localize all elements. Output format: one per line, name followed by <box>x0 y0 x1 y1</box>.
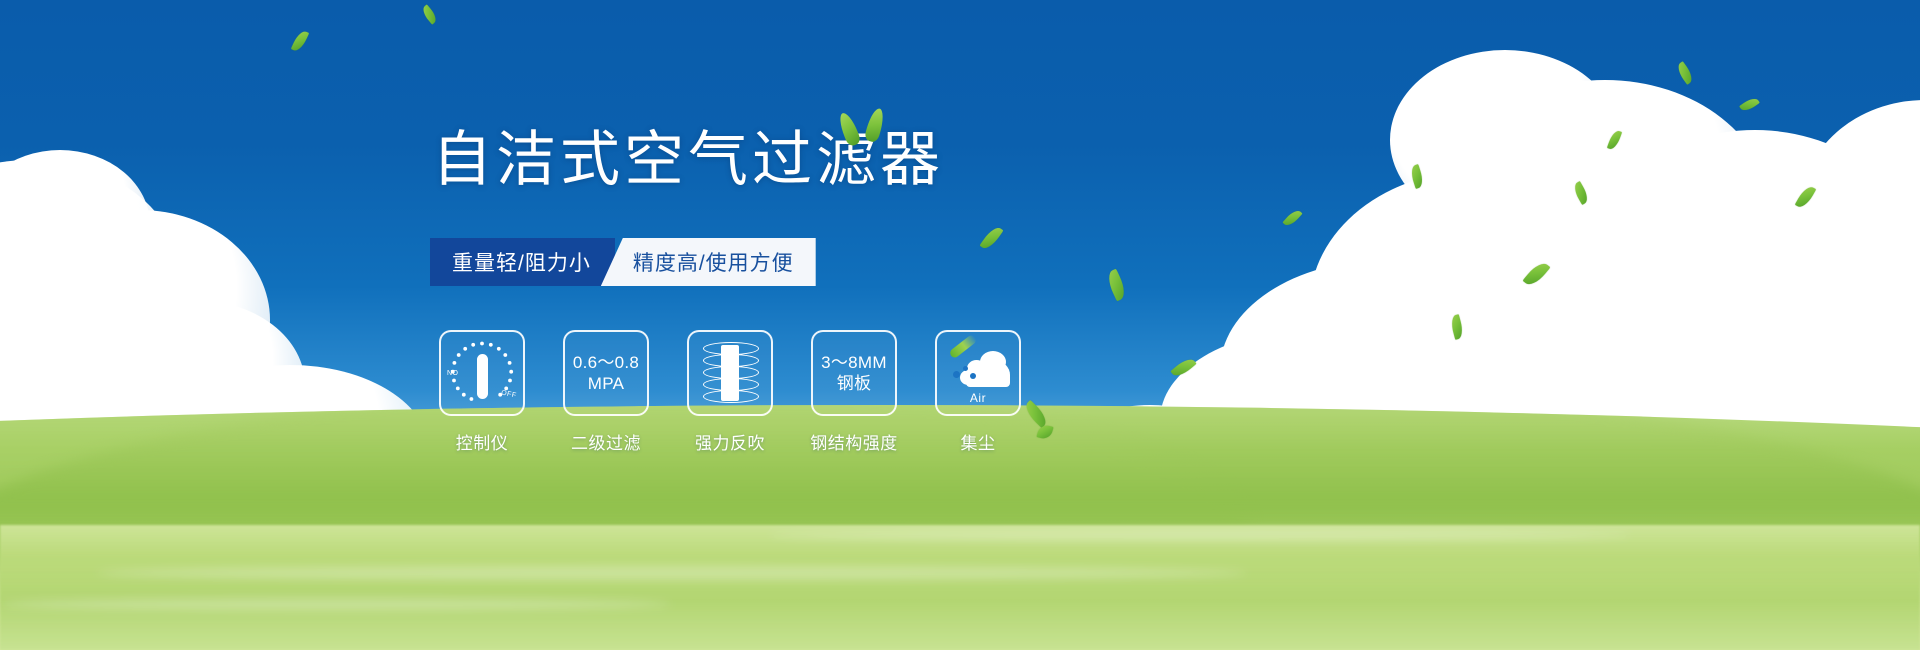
two-green-leaves-icon <box>838 108 898 148</box>
steel-plate-text: 钢板 <box>821 373 887 394</box>
feature-caption: 强力反吹 <box>695 429 765 454</box>
feature-item-dust-collection[interactable]: Air 集尘 <box>934 330 1022 454</box>
cloud-dust-air-icon: Air <box>935 330 1021 416</box>
feature-caption: 二级过滤 <box>571 429 641 454</box>
gauge-needle <box>477 354 488 399</box>
hero-banner: 自洁式空气过滤器 重量轻/阻力小 精度高/使用方便 <box>0 0 1920 650</box>
feature-item-controller[interactable]: NO OFF 控制仪 <box>438 330 526 454</box>
air-label: Air <box>946 391 1010 405</box>
feature-item-steel-strength[interactable]: 3～8MM 钢板 钢结构强度 <box>810 330 898 454</box>
steel-plate-text-icon: 3～8MM 钢板 <box>811 330 897 416</box>
feature-caption: 钢结构强度 <box>810 429 898 454</box>
pressure-unit-text: MPA <box>573 373 639 394</box>
filter-cartridge-icon <box>687 330 773 416</box>
feature-item-strong-backblow[interactable]: 强力反吹 <box>686 330 774 454</box>
feature-badge-group: 重量轻/阻力小 精度高/使用方便 <box>430 238 816 286</box>
feature-caption: 控制仪 <box>456 429 509 454</box>
gauge-label-no: NO <box>447 370 459 377</box>
feature-item-two-stage-filter[interactable]: 0.6～0.8 MPA 二级过滤 <box>562 330 650 454</box>
badge-high-precision-easy-use[interactable]: 精度高/使用方便 <box>601 238 816 286</box>
pressure-range-text: 0.6～0.8 <box>573 352 639 373</box>
badge-label: 重量轻/阻力小 <box>452 247 591 277</box>
feature-caption: 集尘 <box>961 429 996 454</box>
feature-icon-row: NO OFF 控制仪 0.6～0.8 MPA 二级过滤 <box>438 330 1022 454</box>
grass-foreground <box>0 525 1920 650</box>
steel-thickness-text: 3～8MM <box>821 352 887 373</box>
gauge-dial-icon: NO OFF <box>439 330 525 416</box>
pressure-text-icon: 0.6～0.8 MPA <box>563 330 649 416</box>
badge-lightweight-low-resistance[interactable]: 重量轻/阻力小 <box>430 238 615 286</box>
badge-label: 精度高/使用方便 <box>633 247 794 277</box>
